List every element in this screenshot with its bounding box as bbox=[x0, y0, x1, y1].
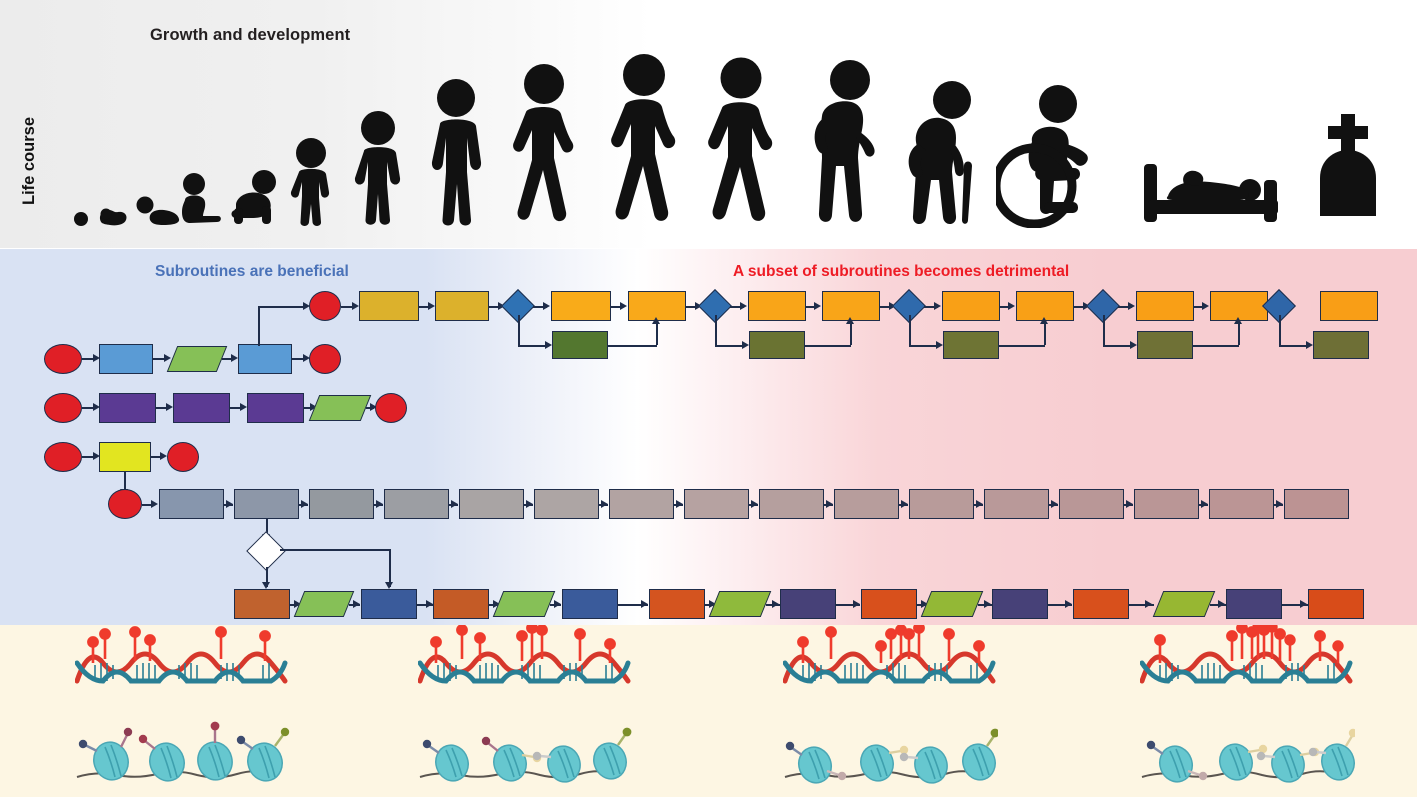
process-box bbox=[1059, 489, 1124, 519]
process-box bbox=[909, 489, 974, 519]
arrowhead bbox=[976, 500, 983, 508]
process-box bbox=[247, 393, 304, 423]
arrowhead bbox=[262, 582, 270, 589]
arrowhead bbox=[641, 600, 648, 608]
connector bbox=[1044, 323, 1046, 345]
dna-and-nucleosome-svg bbox=[75, 625, 290, 790]
deathbed-icon bbox=[1140, 138, 1292, 224]
connector bbox=[608, 345, 657, 347]
arrowhead bbox=[1306, 341, 1313, 349]
process-box bbox=[173, 393, 230, 423]
process-box bbox=[748, 291, 806, 321]
arrowhead bbox=[545, 341, 552, 349]
arrowhead bbox=[166, 403, 173, 411]
process-box bbox=[1308, 589, 1364, 619]
embryo-icon bbox=[96, 199, 130, 227]
process-box bbox=[534, 489, 599, 519]
connector bbox=[909, 345, 937, 347]
arrowhead bbox=[428, 302, 435, 310]
dna-and-nucleosome-svg bbox=[418, 625, 633, 790]
arrowhead bbox=[151, 500, 158, 508]
arrowhead bbox=[826, 500, 833, 508]
branch-process-box bbox=[749, 331, 805, 359]
panel-software: Software Subroutines are beneficial A su… bbox=[0, 249, 1417, 625]
connector bbox=[258, 306, 304, 308]
process-box bbox=[780, 589, 836, 619]
arrowhead bbox=[1145, 600, 1152, 608]
connector bbox=[805, 345, 851, 347]
arrowhead bbox=[676, 500, 683, 508]
process-box bbox=[551, 291, 611, 321]
dna-helix-icon bbox=[77, 654, 285, 681]
connector bbox=[1238, 323, 1240, 345]
connector bbox=[1103, 345, 1131, 347]
gravestone-icon bbox=[1308, 112, 1388, 224]
stooped-adult-icon bbox=[800, 58, 880, 228]
branch-process-box bbox=[552, 331, 608, 359]
process-box bbox=[234, 589, 290, 619]
life-course-silhouette-row bbox=[0, 25, 1417, 230]
process-box bbox=[99, 393, 156, 423]
methyl-mark-icon bbox=[88, 627, 269, 663]
arrowhead bbox=[620, 302, 627, 310]
arrowhead bbox=[814, 302, 821, 310]
arrowhead bbox=[846, 317, 854, 324]
software-heading-beneficial: Subroutines are beneficial bbox=[155, 263, 349, 281]
terminator-end bbox=[167, 442, 199, 472]
process-box bbox=[1073, 589, 1129, 619]
figure-root: Life course Growth and development bbox=[0, 0, 1417, 797]
arrowhead bbox=[160, 452, 167, 460]
arrowhead bbox=[1126, 500, 1133, 508]
arrowhead bbox=[601, 500, 608, 508]
arrowhead bbox=[1202, 302, 1209, 310]
process-box bbox=[684, 489, 749, 519]
connector bbox=[518, 345, 546, 347]
process-box bbox=[1320, 291, 1378, 321]
arrowhead bbox=[652, 317, 660, 324]
walking-adult-icon bbox=[606, 52, 684, 228]
connector bbox=[280, 549, 390, 551]
process-box bbox=[1136, 291, 1194, 321]
process-box bbox=[609, 489, 674, 519]
process-box bbox=[433, 589, 489, 619]
terminator-start bbox=[44, 442, 82, 472]
walking-adult-icon bbox=[704, 56, 780, 228]
process-box bbox=[384, 489, 449, 519]
dna-and-nucleosome-svg bbox=[783, 625, 998, 790]
arrowhead bbox=[1008, 302, 1015, 310]
cane-elder-icon bbox=[898, 70, 984, 228]
process-box bbox=[759, 489, 824, 519]
process-box bbox=[1226, 589, 1282, 619]
connector bbox=[715, 315, 717, 345]
arrowhead bbox=[1051, 500, 1058, 508]
process-box bbox=[649, 589, 705, 619]
software-heading-detrimental: A subset of subroutines becomes detrimen… bbox=[733, 263, 1069, 281]
arrowhead bbox=[426, 600, 433, 608]
process-box bbox=[238, 344, 292, 374]
arrowhead bbox=[526, 500, 533, 508]
connector bbox=[518, 315, 520, 345]
connector bbox=[999, 345, 1045, 347]
epigenome-group-older-adult bbox=[1140, 625, 1370, 797]
branch-process-box bbox=[1313, 331, 1369, 359]
process-box bbox=[99, 442, 151, 472]
process-box bbox=[459, 489, 524, 519]
arrowhead bbox=[385, 582, 393, 589]
epigenome-group-young bbox=[75, 625, 305, 797]
panel-life-course: Life course Growth and development bbox=[0, 0, 1417, 248]
decision-diamond bbox=[246, 531, 286, 571]
arrowhead bbox=[352, 302, 359, 310]
arrowhead bbox=[451, 500, 458, 508]
epigenome-group-adult bbox=[418, 625, 648, 797]
terminator-end bbox=[309, 344, 341, 374]
infant-icon bbox=[176, 172, 222, 228]
process-box bbox=[435, 291, 489, 321]
arrowhead bbox=[1201, 500, 1208, 508]
branch-process-box bbox=[1137, 331, 1193, 359]
arrowhead bbox=[742, 341, 749, 349]
process-box bbox=[1209, 489, 1274, 519]
process-box bbox=[984, 489, 1049, 519]
connector bbox=[1279, 315, 1281, 345]
terminator-start bbox=[44, 344, 82, 374]
nucleosome-chain-icon bbox=[420, 728, 631, 786]
connector bbox=[1193, 345, 1239, 347]
arrowhead bbox=[1234, 317, 1242, 324]
io-parallelogram bbox=[709, 591, 772, 617]
process-box bbox=[992, 589, 1048, 619]
arrowhead bbox=[1128, 302, 1135, 310]
walking-adult-icon bbox=[508, 62, 582, 228]
arrowhead bbox=[1218, 600, 1225, 608]
io-parallelogram bbox=[309, 395, 372, 421]
arrowhead bbox=[984, 600, 991, 608]
terminator-end bbox=[375, 393, 407, 423]
arrowhead bbox=[772, 600, 779, 608]
epigenome-group-middle-age bbox=[783, 625, 1013, 797]
io-parallelogram bbox=[921, 591, 984, 617]
process-box bbox=[834, 489, 899, 519]
methyl-mark-icon bbox=[431, 625, 614, 663]
process-box bbox=[99, 344, 153, 374]
arrowhead bbox=[554, 600, 561, 608]
adolescent-icon bbox=[426, 76, 488, 228]
arrowhead bbox=[1065, 600, 1072, 608]
process-box bbox=[861, 589, 917, 619]
dna-helix-icon bbox=[420, 654, 628, 681]
arrowhead bbox=[751, 500, 758, 508]
io-parallelogram bbox=[167, 346, 228, 372]
arrowhead bbox=[934, 302, 941, 310]
arrowhead bbox=[1300, 600, 1307, 608]
process-box bbox=[1134, 489, 1199, 519]
io-parallelogram bbox=[294, 591, 355, 617]
connector bbox=[1103, 315, 1105, 345]
arrowhead bbox=[543, 302, 550, 310]
arrowhead bbox=[853, 600, 860, 608]
arrowhead bbox=[1130, 341, 1137, 349]
connector bbox=[258, 306, 260, 346]
arrowhead bbox=[740, 302, 747, 310]
nucleosome-chain-icon bbox=[77, 722, 289, 786]
panel-epigenome: Epigenome bbox=[0, 625, 1417, 797]
connector bbox=[715, 345, 743, 347]
arrowhead bbox=[1040, 317, 1048, 324]
branch-process-box bbox=[943, 331, 999, 359]
connector bbox=[850, 323, 852, 345]
terminator bbox=[309, 291, 341, 321]
nucleosome-chain-icon bbox=[1142, 729, 1355, 787]
arrowhead bbox=[901, 500, 908, 508]
fetus-icon bbox=[134, 192, 182, 228]
process-box bbox=[159, 489, 224, 519]
connector bbox=[1279, 345, 1307, 347]
crawling-baby-icon bbox=[226, 166, 280, 228]
connector bbox=[656, 323, 658, 345]
arrowhead bbox=[1276, 500, 1283, 508]
arrowhead bbox=[376, 500, 383, 508]
connector bbox=[909, 315, 911, 345]
arrowhead bbox=[226, 500, 233, 508]
process-box bbox=[309, 489, 374, 519]
io-parallelogram bbox=[493, 591, 556, 617]
nucleosome-chain-icon bbox=[785, 729, 998, 788]
arrowhead bbox=[353, 600, 360, 608]
arrowhead bbox=[231, 354, 238, 362]
terminator bbox=[108, 489, 142, 519]
dna-helix-icon bbox=[785, 654, 993, 681]
process-box bbox=[234, 489, 299, 519]
zygote-icon bbox=[72, 208, 90, 226]
terminator-start bbox=[44, 393, 82, 423]
arrowhead bbox=[301, 500, 308, 508]
process-box bbox=[562, 589, 618, 619]
process-box bbox=[361, 589, 417, 619]
io-parallelogram bbox=[1153, 591, 1216, 617]
arrowhead bbox=[936, 341, 943, 349]
process-box bbox=[942, 291, 1000, 321]
wheelchair-icon bbox=[996, 82, 1100, 228]
process-box bbox=[359, 291, 419, 321]
toddler-icon bbox=[288, 136, 338, 228]
child-icon bbox=[352, 108, 408, 228]
dna-and-nucleosome-svg bbox=[1140, 625, 1355, 790]
arrowhead bbox=[240, 403, 247, 411]
process-box bbox=[1284, 489, 1349, 519]
